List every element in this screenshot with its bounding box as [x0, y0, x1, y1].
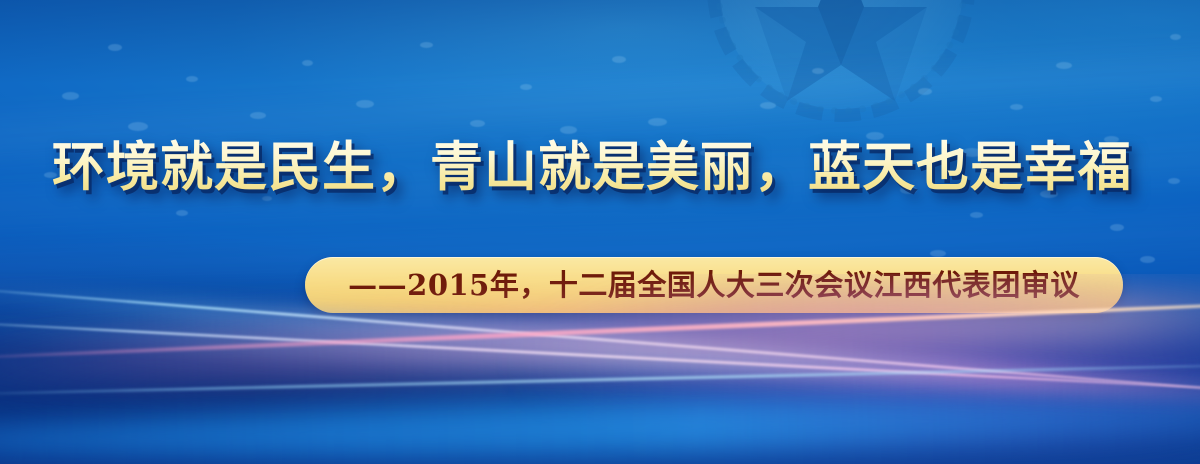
slogan-banner: 环境就是民生，青山就是美丽，蓝天也是幸福 ——2015年，十二届全国人大三次会议… — [0, 0, 1200, 464]
page-title: 环境就是民生，青山就是美丽，蓝天也是幸福 — [52, 134, 1132, 200]
light-streaks — [0, 274, 1200, 464]
